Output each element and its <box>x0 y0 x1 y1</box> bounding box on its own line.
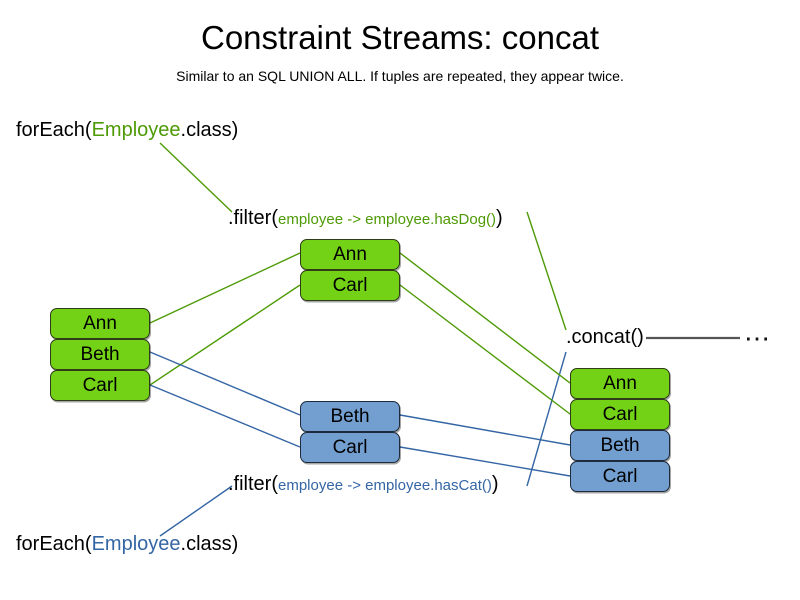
foreach-top-type: Employee <box>92 119 181 141</box>
tuple-box[interactable]: Beth <box>300 401 400 432</box>
wire-source-carl-to-dog-carl <box>150 285 300 385</box>
wire-foreach-bottom-to-filter <box>160 486 232 536</box>
foreach-top-suffix: .class) <box>181 119 239 141</box>
label-foreach-top: forEach(Employee.class) <box>16 118 238 142</box>
wire-source-ann-to-dog-ann <box>150 253 300 323</box>
wire-dog-carl-to-result-carl <box>400 285 570 414</box>
wire-dog-ann-to-result-ann <box>400 253 570 383</box>
foreach-top-prefix: forEach( <box>16 119 92 141</box>
filter-dog-suffix: ) <box>496 207 503 229</box>
label-concat: .concat() <box>566 325 644 349</box>
tuple-box[interactable]: Ann <box>570 368 670 399</box>
wire-cat-beth-to-result-beth <box>400 415 570 445</box>
foreach-bottom-suffix: .class) <box>181 533 239 555</box>
tuple-box[interactable]: Beth <box>570 430 670 461</box>
tuple-box[interactable]: Ann <box>50 308 150 339</box>
filter-cat-suffix: ) <box>492 473 499 495</box>
tuple-box[interactable]: Beth <box>50 339 150 370</box>
filter-dog-lambda: employee -> employee.hasDog() <box>278 211 496 228</box>
wire-source-carl-to-cat-carl <box>150 385 300 447</box>
foreach-bottom-prefix: forEach( <box>16 533 92 555</box>
tuple-box[interactable]: Ann <box>300 239 400 270</box>
connector-lines <box>0 0 800 600</box>
filter-cat-lambda: employee -> employee.hasCat() <box>278 477 492 494</box>
tuple-box[interactable]: Carl <box>570 461 670 492</box>
wire-source-beth-to-cat-beth <box>150 352 300 415</box>
tuple-box[interactable]: Carl <box>300 432 400 463</box>
filter-dog-prefix: .filter( <box>228 207 278 229</box>
diagram-canvas: Constraint Streams: concat Similar to an… <box>0 0 800 600</box>
wire-filter-dog-to-concat <box>527 212 566 330</box>
label-foreach-bottom: forEach(Employee.class) <box>16 532 238 556</box>
label-filter-has-cat: .filter(employee -> employee.hasCat()) <box>228 472 499 498</box>
foreach-bottom-type: Employee <box>92 533 181 555</box>
filter-cat-prefix: .filter( <box>228 473 278 495</box>
wire-foreach-top-to-filter <box>160 143 232 212</box>
wire-filter-cat-to-concat <box>527 352 566 486</box>
tuple-box[interactable]: Carl <box>570 399 670 430</box>
tuple-box[interactable]: Carl <box>50 370 150 401</box>
label-filter-has-dog: .filter(employee -> employee.hasDog()) <box>228 206 503 232</box>
continuation-ellipsis: ⋯ <box>744 328 772 348</box>
tuple-box[interactable]: Carl <box>300 270 400 301</box>
